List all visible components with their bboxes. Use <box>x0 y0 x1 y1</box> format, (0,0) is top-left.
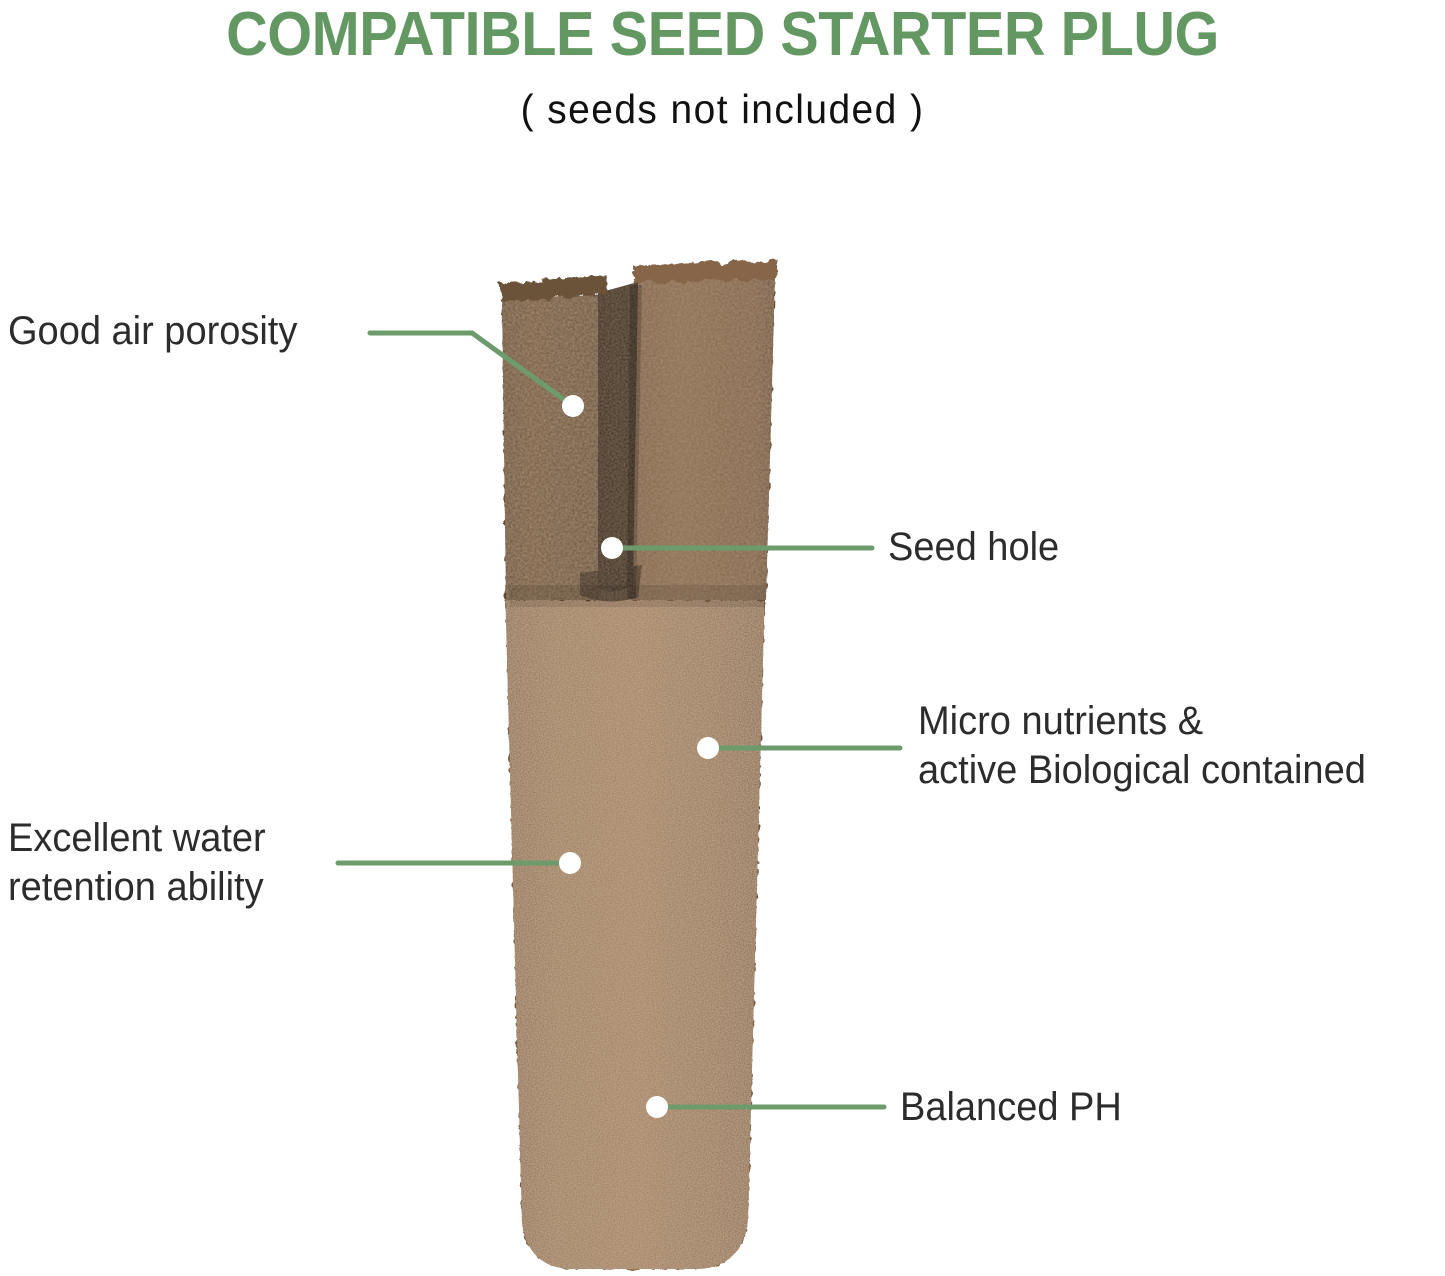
callout-label-seed-hole: Seed hole <box>888 523 1059 572</box>
callout-line: Good air porosity <box>8 307 297 356</box>
callout-layer: Good air porosity Seed hole Micro nutrie… <box>0 0 1445 1276</box>
callout-line: Micro nutrients & <box>918 697 1366 746</box>
callout-label-water-retention: Excellent water retention ability <box>8 814 266 912</box>
leader-line-good-air-porosity <box>370 333 573 406</box>
callout-dot-water-retention <box>559 852 581 874</box>
callout-line: Seed hole <box>888 523 1059 572</box>
callout-label-balanced-ph: Balanced PH <box>900 1083 1122 1132</box>
callout-label-micro-nutrients: Micro nutrients & active Biological cont… <box>918 697 1366 795</box>
callout-dot-micro-nutrients <box>697 737 719 759</box>
infographic-canvas: COMPATIBLE SEED STARTER PLUG ( seeds not… <box>0 0 1445 1276</box>
callout-dot-seed-hole <box>601 537 623 559</box>
callout-label-good-air-porosity: Good air porosity <box>8 307 297 356</box>
callout-dot-balanced-ph <box>646 1096 668 1118</box>
callout-line: Excellent water <box>8 814 266 863</box>
callout-line: Balanced PH <box>900 1083 1122 1132</box>
callout-dot-good-air-porosity <box>562 395 584 417</box>
callout-line: active Biological contained <box>918 746 1366 795</box>
callout-line: retention ability <box>8 863 266 912</box>
